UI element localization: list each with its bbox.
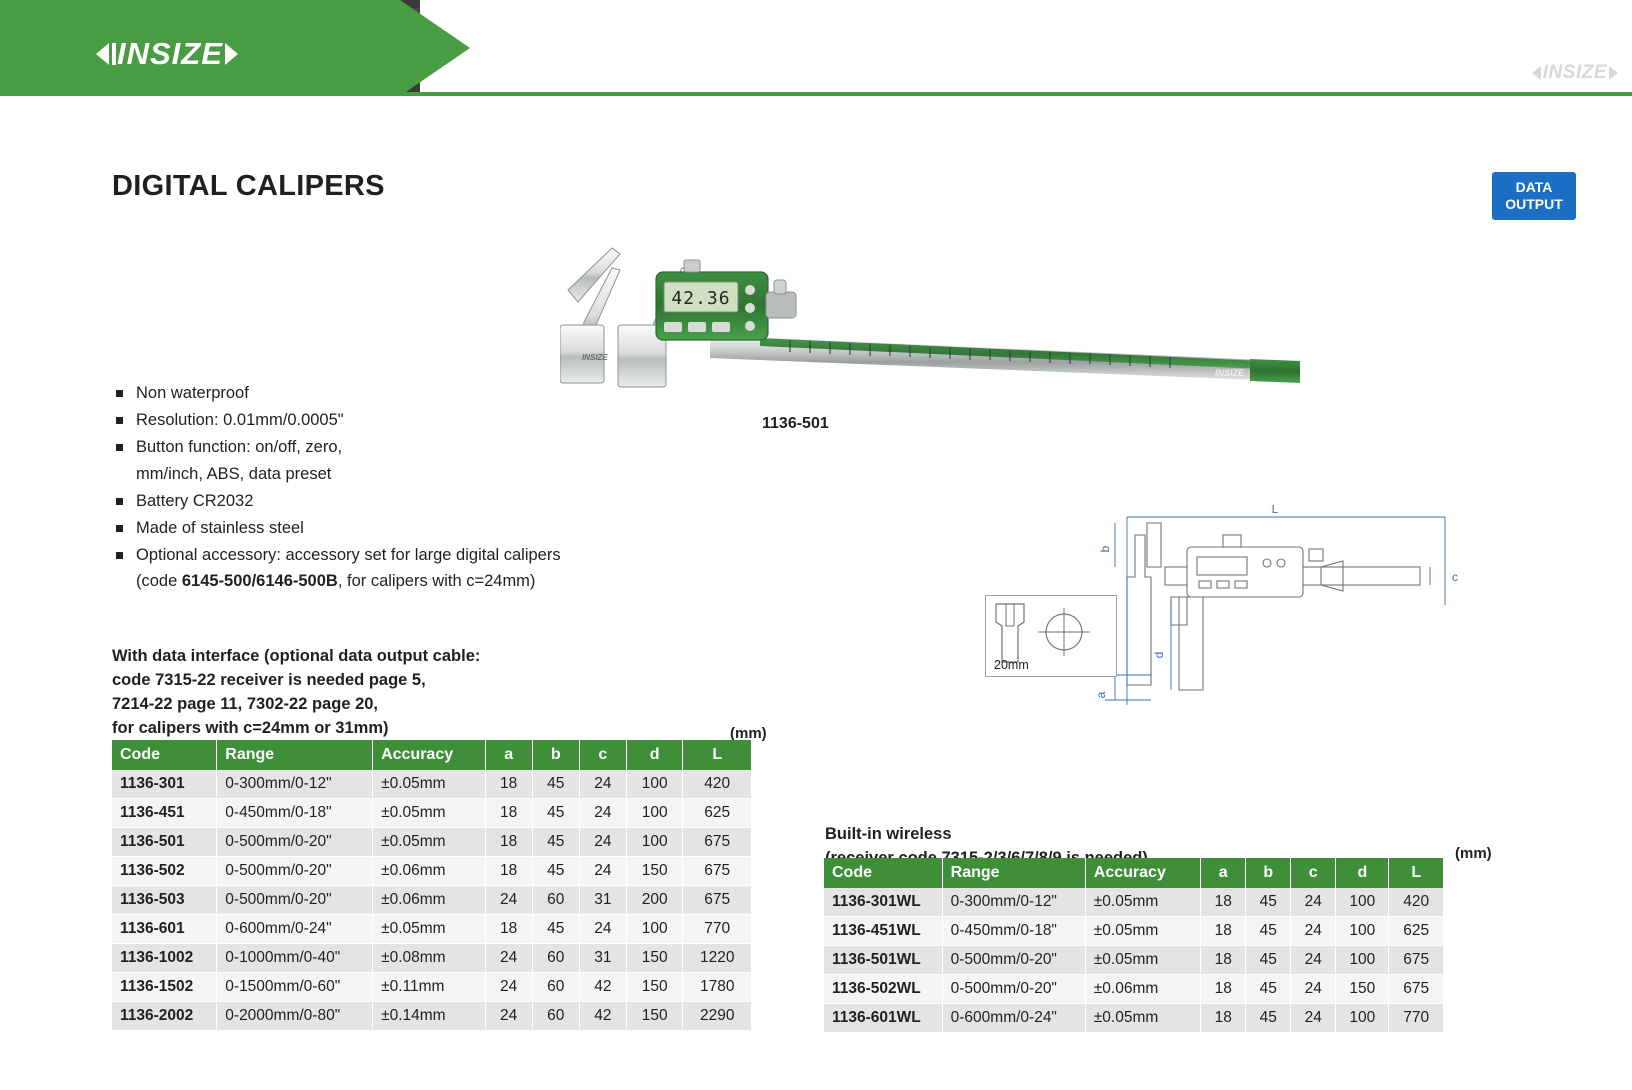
cell-code: 1136-451WL (824, 917, 942, 946)
cell-value: 100 (1336, 888, 1389, 917)
cell-value: 45 (532, 857, 579, 886)
cell-value: 2290 (683, 1002, 752, 1031)
cell-value: 24 (485, 944, 532, 973)
table-row: 1136-301WL0-300mm/0-12"±0.05mm1845241004… (824, 888, 1444, 917)
cell-value: 45 (1246, 975, 1291, 1004)
cell-value: ±0.05mm (1085, 888, 1200, 917)
feature-item-button-function: Button function: on/off, zero, (114, 436, 734, 460)
cell-value: 24 (485, 973, 532, 1002)
accessory-post: , for calipers with c=24mm) (338, 572, 536, 590)
col-a: a (485, 740, 532, 770)
badge-line-2: OUTPUT (1505, 196, 1563, 214)
cell-value: 100 (626, 770, 683, 799)
cell-value: 150 (1336, 975, 1389, 1004)
table-row: 1136-4510-450mm/0-18"±0.05mm184524100625 (112, 799, 752, 828)
cell-value: 770 (683, 915, 752, 944)
cell-value: ±0.05mm (373, 799, 486, 828)
data-interface-table: Code Range Accuracy a b c d L 1136-3010-… (112, 740, 752, 1031)
cell-value: 18 (1201, 946, 1246, 975)
diagram-label-b: b (1098, 545, 1112, 552)
watermark-right-arrow-icon (1609, 66, 1618, 80)
cell-value: 24 (485, 886, 532, 915)
cell-value: 0-2000mm/0-80" (217, 1002, 373, 1031)
cell-value: ±0.05mm (1085, 946, 1200, 975)
feature-item-resolution: Resolution: 0.01mm/0.0005" (114, 409, 734, 433)
table-row: 1136-601WL0-600mm/0-24"±0.05mm1845241007… (824, 1004, 1444, 1033)
svg-text:INSIZE: INSIZE (582, 353, 608, 362)
data-output-badge: DATA OUTPUT (1492, 172, 1576, 220)
cell-value: 18 (1201, 975, 1246, 1004)
logo-left-arrow-icon (96, 43, 109, 65)
cell-value: 60 (532, 886, 579, 915)
cell-value: 60 (532, 973, 579, 1002)
svg-text:INSIZE: INSIZE (1215, 368, 1245, 378)
table-row: 1136-5030-500mm/0-20"±0.06mm246031200675 (112, 886, 752, 915)
insize-watermark-text: INSIZE (1543, 62, 1607, 84)
cell-value: ±0.05mm (373, 828, 486, 857)
cell-value: 0-300mm/0-12" (942, 888, 1085, 917)
table-header-row: Code Range Accuracy a b c d L (112, 740, 752, 770)
cell-value: 24 (485, 1002, 532, 1031)
cell-code: 1136-601 (112, 915, 217, 944)
cell-value: 45 (1246, 946, 1291, 975)
cell-value: 18 (485, 828, 532, 857)
table-row: 1136-451WL0-450mm/0-18"±0.05mm1845241006… (824, 917, 1444, 946)
cell-value: 42 (579, 1002, 626, 1031)
feature-item-waterproof: Non waterproof (114, 382, 734, 406)
cell-value: 24 (1291, 1004, 1336, 1033)
cell-code: 1136-601WL (824, 1004, 942, 1033)
cell-value: 100 (1336, 946, 1389, 975)
col-a: a (1201, 858, 1246, 888)
col-accuracy: Accuracy (373, 740, 486, 770)
cell-code: 1136-451 (112, 799, 217, 828)
right-heading-line-1: Built-in wireless (825, 823, 1385, 847)
cell-value: 100 (1336, 1004, 1389, 1033)
left-heading-line-3: 7214-22 page 11, 7302-22 page 20, (112, 693, 752, 717)
accessory-pre: (code (136, 572, 182, 590)
left-heading-line-2: code 7315-22 receiver is needed page 5, (112, 669, 752, 693)
inset-label-20mm: 20mm (994, 658, 1029, 672)
accessory-codes: 6145-500/6146-500B (182, 572, 338, 590)
cell-value: 100 (626, 799, 683, 828)
cell-value: 60 (532, 944, 579, 973)
table-row: 1136-3010-300mm/0-12"±0.05mm184524100420 (112, 770, 752, 799)
cell-value: 200 (626, 886, 683, 915)
col-code: Code (112, 740, 217, 770)
cell-value: 150 (626, 973, 683, 1002)
col-c: c (1291, 858, 1336, 888)
cell-value: 24 (1291, 946, 1336, 975)
cell-value: 45 (1246, 1004, 1291, 1033)
cell-value: ±0.05mm (1085, 1004, 1200, 1033)
cell-code: 1136-1502 (112, 973, 217, 1002)
cell-value: 24 (579, 915, 626, 944)
badge-line-1: DATA (1516, 179, 1553, 197)
table-header-row: Code Range Accuracy a b c d L (824, 858, 1444, 888)
cell-value: 24 (579, 828, 626, 857)
cell-value: 45 (532, 770, 579, 799)
cell-value: 675 (1389, 975, 1444, 1004)
col-L: L (1389, 858, 1444, 888)
cell-value: 675 (1389, 946, 1444, 975)
cell-value: 42 (579, 973, 626, 1002)
cell-value: 18 (1201, 888, 1246, 917)
product-image-caliper: 42.36 INSIZE INSIZE (560, 230, 1300, 400)
insize-watermark-logo: INSIZE (1532, 62, 1618, 84)
cell-value: 0-500mm/0-20" (217, 828, 373, 857)
cell-value: 675 (683, 828, 752, 857)
col-b: b (1246, 858, 1291, 888)
cell-value: ±0.05mm (373, 915, 486, 944)
cell-value: 24 (579, 799, 626, 828)
cell-value: 45 (1246, 888, 1291, 917)
cell-value: 100 (626, 915, 683, 944)
cell-value: 24 (579, 770, 626, 799)
diagram-label-L: L (1272, 505, 1279, 516)
cell-code: 1136-502WL (824, 975, 942, 1004)
cell-code: 1136-301WL (824, 888, 942, 917)
table-row: 1136-5020-500mm/0-20"±0.06mm184524150675 (112, 857, 752, 886)
table-row: 1136-5010-500mm/0-20"±0.05mm184524100675 (112, 828, 752, 857)
feature-list: Non waterproof Resolution: 0.01mm/0.0005… (114, 382, 734, 597)
cell-value: 150 (626, 857, 683, 886)
cell-value: 675 (683, 886, 752, 915)
col-code: Code (824, 858, 942, 888)
cell-value: 45 (532, 915, 579, 944)
cell-value: 420 (1389, 888, 1444, 917)
cell-value: 0-300mm/0-12" (217, 770, 373, 799)
cell-code: 1136-501 (112, 828, 217, 857)
page-title: DIGITAL CALIPERS (112, 170, 385, 203)
cell-value: 18 (485, 770, 532, 799)
feature-item-button-function-cont: mm/inch, ABS, data preset (114, 463, 734, 487)
cell-code: 1136-301 (112, 770, 217, 799)
cell-code: 1136-1002 (112, 944, 217, 973)
cell-value: ±0.11mm (373, 973, 486, 1002)
cell-value: 0-500mm/0-20" (942, 946, 1085, 975)
product-caption: 1136-501 (762, 415, 829, 433)
cell-value: 0-450mm/0-18" (942, 917, 1085, 946)
cell-value: 0-600mm/0-24" (217, 915, 373, 944)
right-table-unit: (mm) (1455, 845, 1492, 862)
col-d: d (626, 740, 683, 770)
cell-value: 420 (683, 770, 752, 799)
cell-value: 770 (1389, 1004, 1444, 1033)
col-b: b (532, 740, 579, 770)
insize-logo-text: INSIZE (117, 36, 223, 72)
cell-value: ±0.06mm (373, 886, 486, 915)
cell-value: 18 (485, 799, 532, 828)
left-heading-line-1: With data interface (optional data outpu… (112, 645, 752, 669)
cell-code: 1136-2002 (112, 1002, 217, 1031)
cell-value: 0-600mm/0-24" (942, 1004, 1085, 1033)
table-row: 1136-502WL0-500mm/0-20"±0.06mm1845241506… (824, 975, 1444, 1004)
cell-value: 150 (626, 944, 683, 973)
cell-value: 1780 (683, 973, 752, 1002)
col-d: d (1336, 858, 1389, 888)
cell-code: 1136-501WL (824, 946, 942, 975)
cell-value: 100 (626, 828, 683, 857)
feature-item-battery: Battery CR2032 (114, 490, 734, 514)
col-L: L (683, 740, 752, 770)
cell-value: 150 (626, 1002, 683, 1031)
cell-value: 24 (579, 857, 626, 886)
cell-value: 18 (485, 857, 532, 886)
table-row: 1136-15020-1500mm/0-60"±0.11mm2460421501… (112, 973, 752, 1002)
cell-value: 0-500mm/0-20" (217, 857, 373, 886)
table-row: 1136-10020-1000mm/0-40"±0.08mm2460311501… (112, 944, 752, 973)
cell-value: 24 (1291, 888, 1336, 917)
cell-value: 31 (579, 944, 626, 973)
col-c: c (579, 740, 626, 770)
cell-value: 625 (1389, 917, 1444, 946)
cell-value: 0-1000mm/0-40" (217, 944, 373, 973)
cell-value: ±0.08mm (373, 944, 486, 973)
feature-item-accessory-cont: (code 6145-500/6146-500B, for calipers w… (114, 570, 734, 594)
cell-value: ±0.05mm (373, 770, 486, 799)
col-range: Range (942, 858, 1085, 888)
cell-value: 675 (683, 857, 752, 886)
built-in-wireless-table: Code Range Accuracy a b c d L 1136-301WL… (824, 858, 1444, 1033)
svg-text:42.36: 42.36 (671, 288, 730, 309)
cell-value: 18 (485, 915, 532, 944)
header-underline (0, 92, 1632, 96)
cell-value: 45 (532, 799, 579, 828)
diagram-label-a: a (1094, 691, 1108, 698)
cell-value: 100 (1336, 917, 1389, 946)
diagram-label-d: d (1152, 652, 1166, 659)
left-table-heading: With data interface (optional data outpu… (112, 645, 752, 741)
cell-value: 18 (1201, 1004, 1246, 1033)
cell-value: 18 (1201, 917, 1246, 946)
diagram-label-c: c (1452, 570, 1458, 584)
page-header: INSIZE INSIZE (0, 0, 1632, 96)
col-range: Range (217, 740, 373, 770)
cell-value: 24 (1291, 975, 1336, 1004)
cell-value: 31 (579, 886, 626, 915)
table-row: 1136-6010-600mm/0-24"±0.05mm184524100770 (112, 915, 752, 944)
table-row: 1136-501WL0-500mm/0-20"±0.05mm1845241006… (824, 946, 1444, 975)
cell-value: ±0.14mm (373, 1002, 486, 1031)
feature-item-accessory: Optional accessory: accessory set for la… (114, 544, 734, 568)
cell-value: 60 (532, 1002, 579, 1031)
cell-code: 1136-502 (112, 857, 217, 886)
insize-logo: INSIZE (96, 36, 238, 72)
cell-value: 0-450mm/0-18" (217, 799, 373, 828)
col-accuracy: Accuracy (1085, 858, 1200, 888)
cell-value: ±0.06mm (1085, 975, 1200, 1004)
cell-value: 0-1500mm/0-60" (217, 973, 373, 1002)
cell-value: 45 (1246, 917, 1291, 946)
cell-code: 1136-503 (112, 886, 217, 915)
cell-value: 625 (683, 799, 752, 828)
cell-value: 0-500mm/0-20" (217, 886, 373, 915)
cell-value: 24 (1291, 917, 1336, 946)
cell-value: 0-500mm/0-20" (942, 975, 1085, 1004)
feature-item-material: Made of stainless steel (114, 517, 734, 541)
logo-right-arrow-icon (225, 43, 238, 65)
cell-value: 45 (532, 828, 579, 857)
watermark-left-arrow-icon (1532, 66, 1541, 80)
cell-value: 1220 (683, 944, 752, 973)
cell-value: ±0.06mm (373, 857, 486, 886)
jaw-detail-inset: 20mm (985, 595, 1117, 677)
left-heading-line-4: for calipers with c=24mm or 31mm) (112, 717, 752, 741)
cell-value: ±0.05mm (1085, 917, 1200, 946)
table-row: 1136-20020-2000mm/0-80"±0.14mm2460421502… (112, 1002, 752, 1031)
